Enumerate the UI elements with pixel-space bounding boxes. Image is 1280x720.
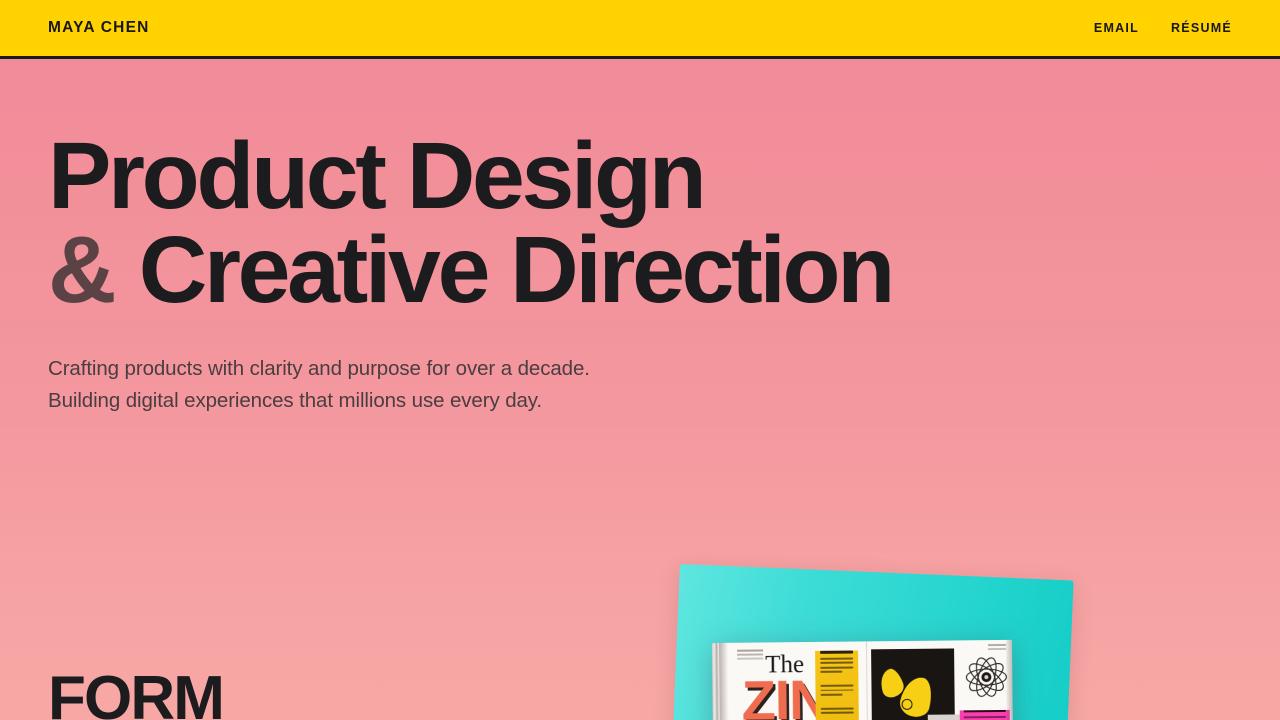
headline-ampersand: & [48,217,116,323]
magazine-folio-lines [988,644,1006,646]
subhead-line-2: Building digital experiences that millio… [48,389,542,412]
magazine-pink-sticky-note [960,710,1010,720]
headline-line-1: Product Design [48,123,703,229]
nav-links: EMAIL RÉSUMÉ [1094,21,1232,35]
text-gap [820,675,853,682]
text-line [820,685,853,687]
text-line [821,694,843,696]
section-title-form: FORM [48,668,223,720]
hero-subhead: Crafting products with clarity and purpo… [48,353,1232,418]
text-line [820,658,853,660]
headline-line-2: Creative Direction [139,217,892,323]
magazine-left-page: The ZIN [719,641,868,720]
magazine-sketch-thumbnail [928,714,964,720]
text-line [821,708,854,710]
magazine-right-page [867,640,1013,720]
atom-diagram-icon [963,654,1009,700]
magazine-kicker-lines [737,649,763,651]
page-title: Product Design & Creative Direction [48,129,1232,317]
nav-link-resume[interactable]: RÉSUMÉ [1171,21,1232,35]
text-line [964,716,1006,718]
hero-section: Product Design & Creative Direction Craf… [0,59,1280,418]
text-gap [821,716,854,720]
top-navbar: MAYA CHEN EMAIL RÉSUMÉ [0,0,1280,59]
magazine-black-panel [871,648,955,720]
text-line [820,666,853,668]
brand-logo[interactable]: MAYA CHEN [48,19,150,37]
text-line [964,710,1006,713]
text-line [820,671,842,673]
text-line [821,712,854,714]
open-magazine-image: The ZIN [712,640,1018,720]
text-line [820,689,853,691]
portfolio-landing-page: MAYA CHEN EMAIL RÉSUMÉ Product Design & … [0,0,1280,720]
text-line [820,662,853,664]
text-line [820,651,853,654]
magazine-yellow-text-column [815,650,859,720]
pear-shape-icon [897,674,935,720]
subhead-line-1: Crafting products with clarity and purpo… [48,357,590,380]
text-gap [821,698,854,705]
nav-link-email[interactable]: EMAIL [1094,21,1139,35]
